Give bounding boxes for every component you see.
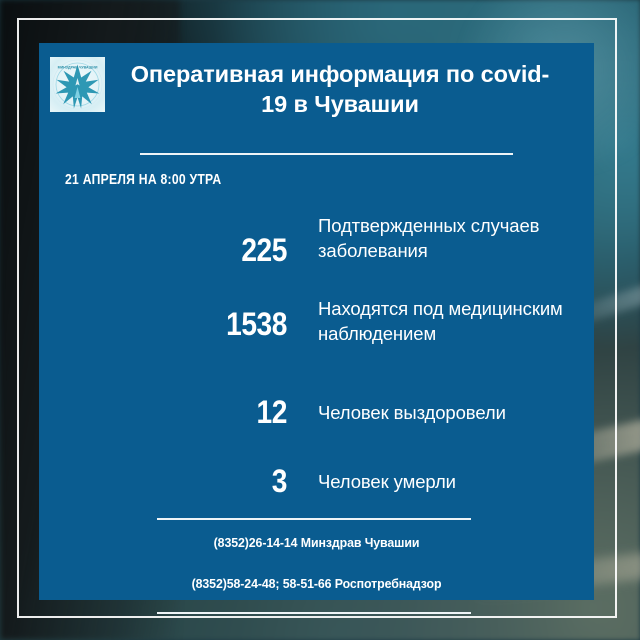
title-divider: [140, 153, 513, 155]
stat-value: 3: [192, 463, 287, 500]
hotline-minzdrav: (8352)26-14-14 Минздрав Чувашии: [53, 535, 580, 550]
footer-divider-bottom: [157, 612, 471, 614]
stat-label: Человек выздоровели: [318, 400, 628, 425]
stat-label: Находятся под медицинским наблюдением: [318, 296, 628, 346]
stat-label: Человек умерли: [318, 469, 628, 494]
covid-info-poster: МИНЗДРАВ ЧУВАШИИ Оперативная информация …: [0, 0, 640, 640]
minzdrav-chuvashii-logo-icon: МИНЗДРАВ ЧУВАШИИ: [50, 57, 105, 112]
report-date: 21 АПРЕЛЯ НА 8:00 УТРА: [65, 172, 221, 188]
stat-label: Подтвержденных случаев заболевания: [318, 213, 628, 263]
footer-divider-top: [157, 518, 471, 520]
svg-text:МИНЗДРАВ ЧУВАШИИ: МИНЗДРАВ ЧУВАШИИ: [58, 65, 98, 69]
stat-value: 12: [192, 394, 287, 431]
hotline-rospotrebnadzor: (8352)58-24-48; 58-51-66 Роспотребнадзор: [53, 576, 580, 591]
stat-value: 225: [192, 232, 287, 269]
info-panel: МИНЗДРАВ ЧУВАШИИ Оперативная информация …: [39, 43, 594, 600]
stat-value: 1538: [192, 306, 287, 343]
poster-title: Оперативная информация по covid-19 в Чув…: [120, 59, 560, 119]
